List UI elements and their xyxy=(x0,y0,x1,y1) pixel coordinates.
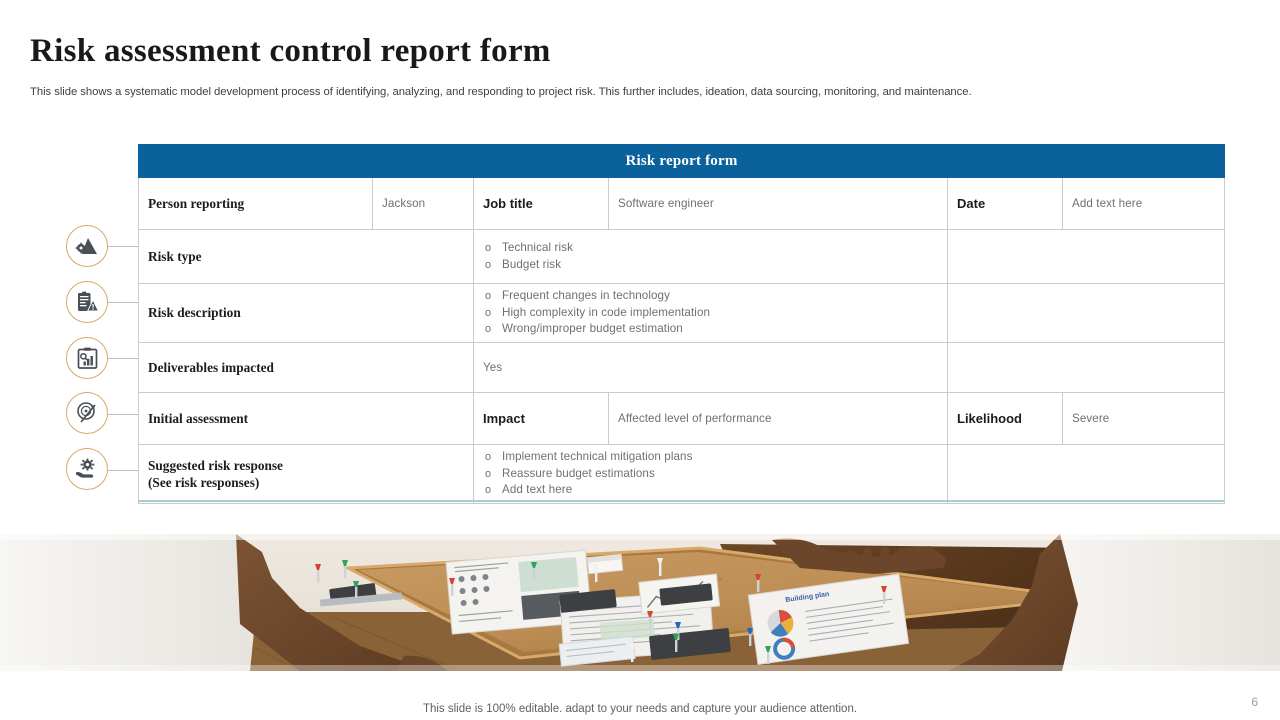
option-item[interactable]: Reassure budget estimations xyxy=(483,466,947,483)
icon-rail xyxy=(0,0,140,520)
clipboard-chart-icon xyxy=(66,337,108,379)
option-item[interactable]: Budget risk xyxy=(483,257,947,274)
row-options-suggested-risk-response[interactable]: Implement technical mitigation plans Rea… xyxy=(474,445,948,504)
row-label-date: Date xyxy=(948,178,1063,230)
row-value-date[interactable]: Add text here xyxy=(1063,178,1225,230)
icon-node-suggested-response[interactable] xyxy=(66,448,108,490)
target-arrow-icon xyxy=(66,392,108,434)
icon-node-deliverables[interactable] xyxy=(66,337,108,379)
icon-node-risk-type[interactable] xyxy=(66,225,108,267)
table-row-suggested-risk-response: Suggested risk response (See risk respon… xyxy=(139,445,1225,504)
row-label-deliverables-impacted: Deliverables impacted xyxy=(139,343,474,393)
table-row-risk-description: Risk description Frequent changes in tec… xyxy=(139,284,1225,343)
clipboard-warning-icon xyxy=(66,281,108,323)
slide: Risk assessment control report form This… xyxy=(0,0,1280,720)
icon-node-initial-assessment[interactable] xyxy=(66,392,108,434)
risk-report-form-table: Risk report form Person reporting Jackso… xyxy=(138,144,1224,504)
hand-gear-icon xyxy=(66,448,108,490)
row-options-risk-type[interactable]: Technical risk Budget risk xyxy=(474,230,948,284)
row-value-impact[interactable]: Affected level of performance xyxy=(609,393,948,445)
option-item[interactable]: Wrong/improper budget estimation xyxy=(483,321,947,338)
risk-mountain-gear-icon xyxy=(66,225,108,267)
page-subtitle: This slide shows a systematic model deve… xyxy=(30,86,972,98)
row-blank-risk-description[interactable] xyxy=(948,284,1225,343)
table-row-risk-type: Risk type Technical risk Budget risk xyxy=(139,230,1225,284)
team-planning-photo: Environmental Building plan xyxy=(0,534,1280,671)
row-label-likelihood: Likelihood xyxy=(948,393,1063,445)
row-value-person-reporting[interactable]: Jackson xyxy=(373,178,474,230)
table-row-initial-assessment: Initial assessment Impact Affected level… xyxy=(139,393,1225,445)
connector-line-2 xyxy=(108,302,138,303)
option-item[interactable]: Frequent changes in technology xyxy=(483,288,947,305)
connector-line-5 xyxy=(108,470,138,471)
row-blank-suggested-risk-response[interactable] xyxy=(948,445,1225,504)
row-label-impact: Impact xyxy=(474,393,609,445)
row-blank-deliverables-impacted[interactable] xyxy=(948,343,1225,393)
row-label-person-reporting: Person reporting xyxy=(139,178,373,230)
row-value-likelihood[interactable]: Severe xyxy=(1063,393,1225,445)
connector-line-3 xyxy=(108,358,138,359)
icon-node-risk-description[interactable] xyxy=(66,281,108,323)
row-label-suggested-risk-response: Suggested risk response (See risk respon… xyxy=(139,445,474,504)
option-item[interactable]: Add text here xyxy=(483,482,947,499)
table-header-row: Risk report form xyxy=(139,145,1225,178)
row-label-line-1: Suggested risk response xyxy=(148,457,473,474)
table-row-deliverables-impacted: Deliverables impacted Yes xyxy=(139,343,1225,393)
option-item[interactable]: High complexity in code implementation xyxy=(483,305,947,322)
row-label-line-2: (See risk responses) xyxy=(148,474,473,491)
connector-line-1 xyxy=(108,246,138,247)
row-blank-risk-type[interactable] xyxy=(948,230,1225,284)
connector-line-4 xyxy=(108,414,138,415)
table-row-person-reporting: Person reporting Jackson Job title Softw… xyxy=(139,178,1225,230)
row-label-risk-description: Risk description xyxy=(139,284,474,343)
row-options-risk-description[interactable]: Frequent changes in technology High comp… xyxy=(474,284,948,343)
row-label-risk-type: Risk type xyxy=(139,230,474,284)
row-label-job-title: Job title xyxy=(474,178,609,230)
footer-note: This slide is 100% editable. adapt to yo… xyxy=(0,703,1280,715)
table-bottom-accent xyxy=(138,500,1224,502)
row-value-job-title[interactable]: Software engineer xyxy=(609,178,948,230)
option-item[interactable]: Technical risk xyxy=(483,240,947,257)
row-label-initial-assessment: Initial assessment xyxy=(139,393,474,445)
row-value-deliverables-impacted[interactable]: Yes xyxy=(474,343,948,393)
table-title: Risk report form xyxy=(139,145,1225,178)
option-item[interactable]: Implement technical mitigation plans xyxy=(483,449,947,466)
page-number: 6 xyxy=(1251,695,1258,709)
